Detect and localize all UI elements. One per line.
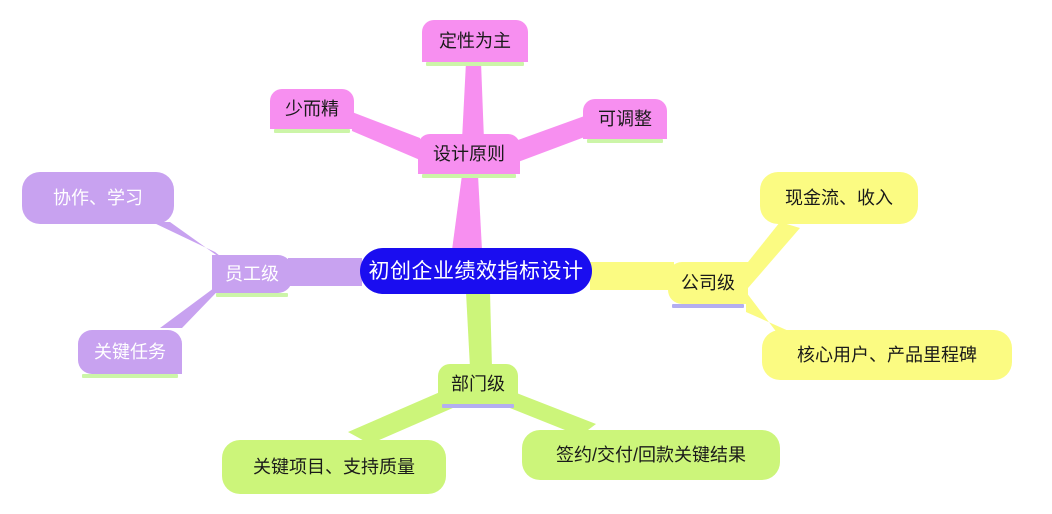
leaf-label-contract-delivery-payment: 签约/交付/回款关键结果 [556, 446, 746, 464]
leaf-node-key-tasks[interactable]: 关键任务 [78, 330, 182, 374]
edge-root-company-level [590, 262, 674, 290]
leaf-node-adjustable[interactable]: 可调整 [583, 99, 667, 139]
branch-node-company-level[interactable]: 公司级 [668, 262, 748, 304]
leaf-node-collaboration-learning[interactable]: 协作、学习 [22, 172, 174, 224]
mindmap-canvas: 初创企业绩效指标设计 设计原则 定性为主 少而精 可调整 员工级 协作、学习 关… [0, 0, 1052, 514]
branch-node-design-principles[interactable]: 设计原则 [418, 134, 520, 174]
leaf-label-collaboration-learning: 协作、学习 [53, 189, 143, 207]
branch-label-employee-level: 员工级 [225, 265, 279, 283]
edge-root-design-principles [452, 175, 482, 250]
leaf-node-cashflow-revenue[interactable]: 现金流、收入 [760, 172, 918, 224]
leaf-label-key-projects-support-quality: 关键项目、支持质量 [253, 458, 415, 476]
edge-design-principles-qualitative [462, 62, 484, 140]
branch-node-employee-level[interactable]: 员工级 [212, 255, 292, 293]
leaf-node-qualitative-first[interactable]: 定性为主 [422, 20, 528, 62]
root-node[interactable]: 初创企业绩效指标设计 [360, 248, 592, 294]
leaf-label-few-and-refined: 少而精 [285, 100, 339, 118]
branch-label-company-level: 公司级 [681, 274, 735, 292]
leaf-label-adjustable: 可调整 [598, 110, 652, 128]
root-node-label: 初创企业绩效指标设计 [369, 261, 584, 282]
edge-root-department-level [466, 292, 492, 368]
edge-design-principles-adjustable [518, 114, 590, 162]
edge-company-cashflow [748, 222, 800, 288]
leaf-node-few-and-refined[interactable]: 少而精 [270, 89, 354, 129]
leaf-label-key-tasks: 关键任务 [94, 343, 166, 361]
leaf-label-core-users-milestones: 核心用户、产品里程碑 [797, 346, 977, 364]
branch-label-department-level: 部门级 [451, 375, 505, 393]
leaf-node-key-projects-support-quality[interactable]: 关键项目、支持质量 [222, 440, 446, 494]
leaf-label-cashflow-revenue: 现金流、收入 [785, 189, 893, 207]
leaf-node-contract-delivery-payment[interactable]: 签约/交付/回款关键结果 [522, 430, 780, 480]
edge-design-principles-few [352, 112, 420, 160]
leaf-node-core-users-milestones[interactable]: 核心用户、产品里程碑 [762, 330, 1012, 380]
leaf-label-qualitative-first: 定性为主 [439, 32, 511, 50]
edge-root-employee-level [288, 258, 362, 286]
branch-label-design-principles: 设计原则 [433, 145, 505, 163]
branch-node-department-level[interactable]: 部门级 [438, 364, 518, 404]
